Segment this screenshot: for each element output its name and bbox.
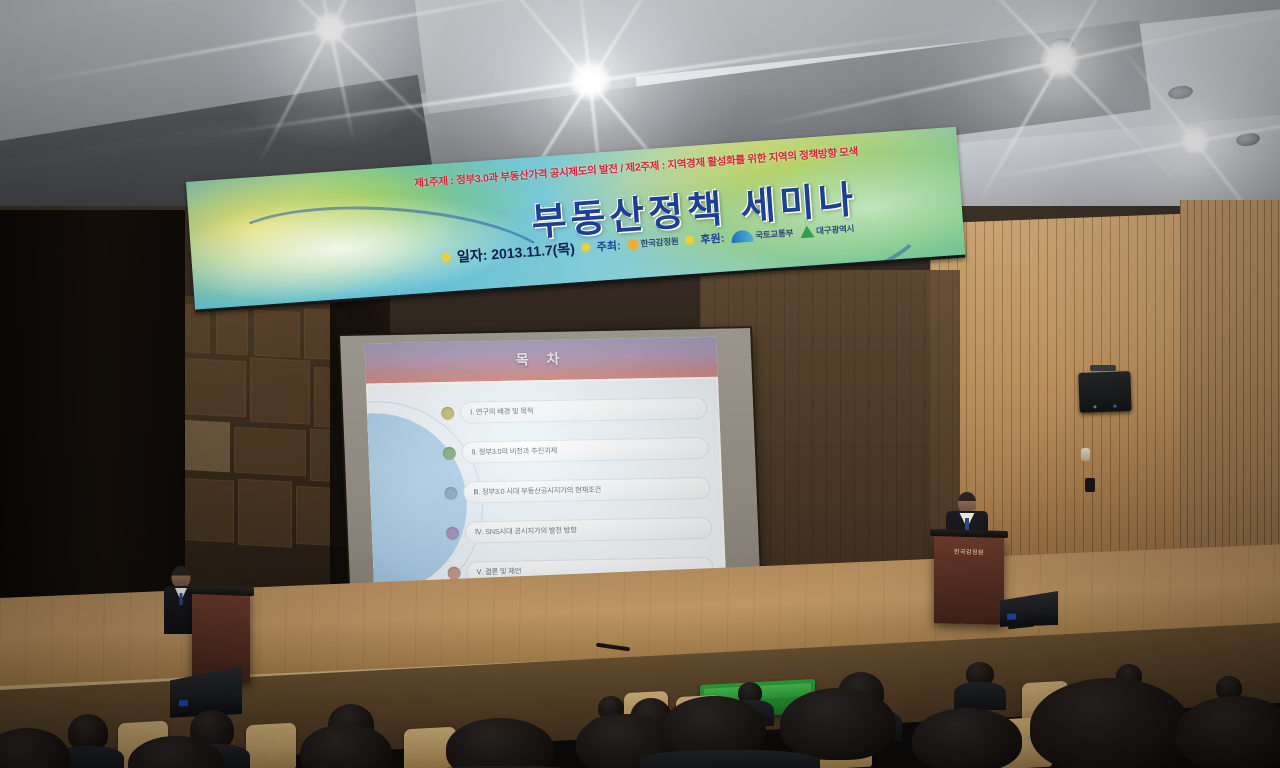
wall-light-fixture bbox=[1081, 448, 1090, 461]
toc-item: Ⅱ. 정부3.0의 비전과 추진과제 bbox=[442, 433, 709, 468]
host-logo: 한국감정원 bbox=[627, 235, 679, 251]
toc-bullet-icon bbox=[444, 486, 458, 499]
audience-area bbox=[0, 600, 1280, 768]
sponsor-name-1: 국토교통부 bbox=[755, 227, 794, 242]
toc-item: Ⅰ. 연구의 배경 및 목적 bbox=[441, 393, 708, 428]
toc-bullet-icon bbox=[441, 406, 455, 419]
wall-speaker bbox=[1078, 371, 1131, 413]
auditorium-photo: 제1주제 : 정부3.0과 부동산가격 공시제도의 발전 / 제2주제 : 지역… bbox=[0, 0, 1280, 768]
seat-medallion-icon bbox=[265, 741, 278, 755]
audience-head-foreground bbox=[0, 728, 70, 768]
podium-top-surface bbox=[930, 529, 1008, 538]
audience-head-foreground bbox=[446, 718, 554, 768]
banner-sponsor-label: 후원: bbox=[700, 230, 725, 248]
toc-pill: Ⅲ. 정부3.0 시대 부동산공시지가의 현재조건 bbox=[463, 477, 711, 504]
sponsor-logo-2: 대구광역시 bbox=[800, 222, 855, 238]
speaker-led bbox=[1093, 405, 1096, 408]
toc-bullet-icon bbox=[446, 526, 460, 539]
toc-item: Ⅲ. 정부3.0 시대 부동산공시지가의 현재조건 bbox=[444, 473, 711, 508]
slide-toc-list: Ⅰ. 연구의 배경 및 목적 Ⅱ. 정부3.0의 비전과 추진과제 Ⅲ. 정부3… bbox=[441, 393, 715, 598]
speaker-led bbox=[1113, 405, 1116, 408]
auditorium-seat bbox=[246, 723, 296, 768]
toc-item: Ⅳ. SNS시대 공시지가의 발전 방향 bbox=[445, 513, 712, 548]
decorative-wall-panel bbox=[168, 295, 354, 605]
toc-label: Ⅲ. 정부3.0 시대 부동산공시지가의 현재조건 bbox=[473, 485, 601, 497]
star-bullet-icon bbox=[685, 236, 694, 245]
triangle-logo-icon bbox=[800, 225, 815, 238]
audience-shoulders-foreground bbox=[640, 750, 820, 768]
toc-pill: Ⅰ. 연구의 배경 및 목적 bbox=[460, 397, 708, 424]
star-bullet-icon bbox=[581, 243, 590, 252]
toc-pill: Ⅱ. 정부3.0의 비전과 추진과제 bbox=[461, 437, 709, 464]
arc-logo-icon bbox=[731, 230, 754, 244]
sponsor-logo-1: 국토교통부 bbox=[731, 227, 794, 243]
podium-nameplate: 한국감정원 bbox=[954, 547, 984, 557]
toc-label: Ⅱ. 정부3.0의 비전과 추진과제 bbox=[472, 446, 558, 458]
audience-head-foreground bbox=[1030, 678, 1190, 768]
banner-host-label: 주최: bbox=[596, 237, 621, 255]
audience-head-foreground bbox=[1176, 696, 1280, 768]
host-logo-icon bbox=[627, 238, 639, 250]
wall-hook bbox=[1085, 478, 1095, 492]
presenter-head bbox=[958, 492, 976, 513]
slide-header: 목 차 bbox=[364, 337, 718, 384]
audience-head-foreground bbox=[912, 708, 1022, 768]
audience-shoulders bbox=[954, 682, 1006, 710]
audience-head-foreground bbox=[300, 724, 392, 768]
speaker-bracket bbox=[1090, 365, 1116, 371]
host-name: 한국감정원 bbox=[640, 235, 679, 250]
toc-pill: Ⅳ. SNS시대 공시지가의 발전 방향 bbox=[465, 517, 713, 544]
slide-title: 목 차 bbox=[365, 346, 718, 373]
sponsor-name-2: 대구광역시 bbox=[816, 222, 855, 237]
toc-bullet-icon bbox=[447, 566, 461, 579]
star-bullet-icon bbox=[442, 253, 451, 262]
toc-bullet-icon bbox=[443, 446, 457, 459]
toc-label: Ⅰ. 연구의 배경 및 목적 bbox=[470, 406, 534, 417]
podium-top-surface bbox=[188, 585, 254, 596]
toc-label: Ⅳ. SNS시대 공시지가의 발전 방향 bbox=[475, 525, 577, 537]
audience-head-foreground bbox=[780, 688, 896, 760]
